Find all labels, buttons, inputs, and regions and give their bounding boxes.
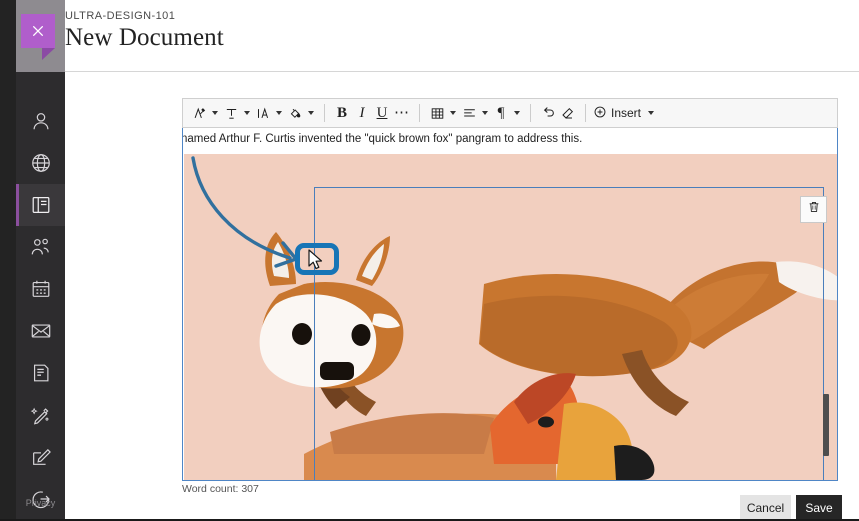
sidebar-item-edit[interactable] [16, 436, 65, 478]
privacy-link[interactable]: Privacy [16, 498, 65, 521]
sidebar-item-organizations[interactable] [16, 226, 65, 268]
calendar-icon [30, 278, 52, 300]
people-icon [30, 236, 52, 258]
toolbar-divider [324, 104, 325, 122]
erase-button[interactable] [558, 101, 578, 125]
grades-icon [30, 362, 52, 384]
fill-color-icon [288, 106, 303, 121]
sidebar-item-institution[interactable] [16, 142, 65, 184]
text-format-button[interactable] [221, 101, 241, 125]
table-caret-icon[interactable] [450, 111, 456, 115]
undo-button[interactable] [538, 101, 558, 125]
plus-circle-icon [593, 105, 607, 122]
sidebar-item-messages[interactable] [16, 310, 65, 352]
eraser-icon [560, 105, 576, 121]
text-format-caret-icon[interactable] [244, 111, 250, 115]
page-header: ULTRA-DESIGN-101 New Document [65, 0, 859, 72]
sidebar-item-calendar[interactable] [16, 268, 65, 310]
close-x-icon [30, 23, 46, 39]
text-style-button[interactable] [189, 101, 209, 125]
paragraph-button[interactable]: ¶ [491, 101, 511, 125]
save-button[interactable]: Save [796, 495, 842, 521]
toolbar-group-history [538, 101, 578, 125]
font-size-button[interactable] [253, 101, 273, 125]
delete-image-button[interactable] [800, 196, 827, 223]
breadcrumb-course-id: ULTRA-DESIGN-101 [65, 10, 175, 22]
content-editor: B I U ⋯ [182, 98, 838, 481]
font-size-icon [256, 106, 271, 121]
insert-button[interactable]: Insert [593, 105, 657, 122]
align-caret-icon[interactable] [482, 111, 488, 115]
more-options-button[interactable]: ⋯ [392, 101, 412, 125]
table-icon [430, 106, 445, 121]
insert-label: Insert [611, 106, 641, 120]
cancel-button[interactable]: Cancel [740, 495, 791, 521]
document-editor-window: Privacy ULTRA-DESIGN-101 New Document [0, 0, 859, 521]
underline-button[interactable]: U [372, 101, 392, 125]
page-title: New Document [65, 24, 224, 52]
align-button[interactable] [459, 101, 479, 125]
highlight-button[interactable] [285, 101, 305, 125]
book-icon [30, 194, 52, 216]
paragraph-caret-icon[interactable] [514, 111, 520, 115]
fox-illustration-artwork [184, 154, 838, 480]
word-count-label: Word count: 307 [182, 483, 259, 495]
close-button[interactable] [21, 14, 55, 48]
tools-icon [30, 404, 52, 426]
editor-toolbar: B I U ⋯ [182, 98, 838, 128]
undo-icon [540, 105, 556, 121]
bold-button[interactable]: B [332, 101, 352, 125]
toolbar-divider [585, 104, 586, 122]
trash-icon [807, 200, 821, 219]
sidebar-item-tools[interactable] [16, 394, 65, 436]
person-icon [30, 110, 52, 132]
editor-canvas[interactable]: named Arthur F. Curtis invented the "qui… [182, 128, 838, 481]
toolbar-group-emphasis: B I U ⋯ [332, 101, 412, 125]
text-style-caret-icon[interactable] [212, 111, 218, 115]
document-text-line: named Arthur F. Curtis invented the "qui… [182, 133, 582, 145]
insert-caret-icon[interactable] [648, 111, 654, 115]
pen-style-icon [192, 106, 207, 121]
toolbar-divider [419, 104, 420, 122]
sidebar-item-courses[interactable] [16, 184, 65, 226]
toolbar-divider [530, 104, 531, 122]
nav-rail-items [16, 100, 65, 520]
table-button[interactable] [427, 101, 447, 125]
italic-button[interactable]: I [352, 101, 372, 125]
highlight-caret-icon[interactable] [308, 111, 314, 115]
window-edge-strip [0, 0, 16, 521]
align-icon [462, 106, 477, 121]
fox-illustration[interactable] [184, 154, 838, 480]
sidebar-item-grades[interactable] [16, 352, 65, 394]
sidebar-item-profile[interactable] [16, 100, 65, 142]
font-size-caret-icon[interactable] [276, 111, 282, 115]
text-format-icon [224, 106, 239, 121]
mail-icon [30, 320, 52, 342]
editor-scrollbar-thumb[interactable] [823, 394, 829, 456]
toolbar-group-text [189, 101, 317, 125]
globe-icon [30, 152, 52, 174]
toolbar-group-structure: ¶ [427, 101, 523, 125]
edit-square-icon [30, 446, 52, 468]
